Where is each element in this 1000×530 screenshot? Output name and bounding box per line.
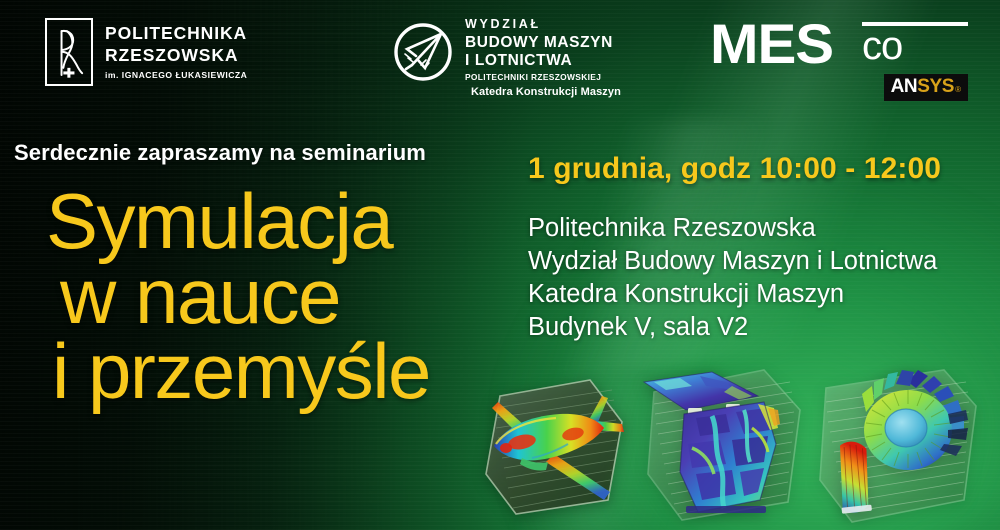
ansys-badge-secondary: SYS	[917, 76, 954, 98]
logo-row: POLITECHNIKA RZESZOWSKA im. IGNACEGO ŁUK…	[0, 0, 1000, 110]
pr-monogram-mark	[45, 18, 93, 86]
simulation-image-row	[472, 352, 1000, 530]
ansys-trademark-icon: ®	[955, 85, 961, 94]
faculty-line-2: BUDOWY MASZYN	[465, 35, 621, 51]
ansys-badge-primary: AN	[891, 76, 918, 98]
faculty-line-5: Katedra Konstrukcji Maszyn	[471, 87, 621, 98]
mesco-word-primary: MES	[710, 16, 833, 72]
location-line-3: Katedra Konstrukcji Maszyn	[528, 278, 937, 311]
location-line-1: Politechnika Rzeszowska	[528, 212, 937, 245]
location-line-2: Wydział Budowy Maszyn i Lotnictwa	[528, 245, 937, 278]
faculty-name-block: WYDZIAŁ BUDOWY MASZYN I LOTNICTWA POLITE…	[465, 18, 621, 98]
event-location: Politechnika Rzeszowska Wydział Budowy M…	[528, 212, 937, 344]
invitation-text: Serdecznie zapraszamy na seminarium	[14, 140, 426, 166]
aircraft-cfd-simulation-image	[472, 358, 648, 530]
mesco-wordmark: MES co	[710, 20, 972, 70]
ansys-badge: AN SYS ®	[884, 74, 968, 101]
event-datetime: 1 grudnia, godz 10:00 - 12:00	[528, 152, 941, 186]
location-line-4: Budynek V, sala V2	[528, 311, 937, 344]
mesco-logo: MES co AN SYS ®	[710, 20, 972, 98]
faculty-line-3: I LOTNICTWA	[465, 53, 621, 69]
title-line-3: i przemyśle	[52, 334, 486, 409]
politechnika-rzeszowska-logo: POLITECHNIKA RZESZOWSKA im. IGNACEGO ŁUK…	[45, 18, 247, 86]
title-line-1: Symulacja	[46, 184, 486, 259]
faculty-line-4: POLITECHNIKI RZESZOWSKIEJ	[465, 73, 621, 81]
bladed-disk-simulation-image	[810, 354, 986, 530]
university-name-block: POLITECHNIKA RZESZOWSKA im. IGNACEGO ŁUK…	[105, 25, 247, 80]
structural-fea-simulation-image	[640, 352, 816, 530]
seminar-banner: POLITECHNIKA RZESZOWSKA im. IGNACEGO ŁUK…	[0, 0, 1000, 530]
wydzial-budowy-maszyn-i-lotnictwa-logo: WYDZIAŁ BUDOWY MASZYN I LOTNICTWA POLITE…	[392, 18, 621, 98]
faculty-line-1: WYDZIAŁ	[465, 18, 621, 31]
university-line-1: POLITECHNIKA	[105, 25, 247, 43]
university-line-2: RZESZOWSKA	[105, 47, 247, 65]
mesco-word-secondary: co	[862, 26, 902, 66]
page-title: Symulacja w nauce i przemyśle	[46, 184, 486, 409]
airplane-in-circle-icon	[392, 21, 454, 83]
title-line-2: w nauce	[60, 259, 486, 334]
university-line-3: im. IGNACEGO ŁUKASIEWICZA	[105, 71, 247, 80]
